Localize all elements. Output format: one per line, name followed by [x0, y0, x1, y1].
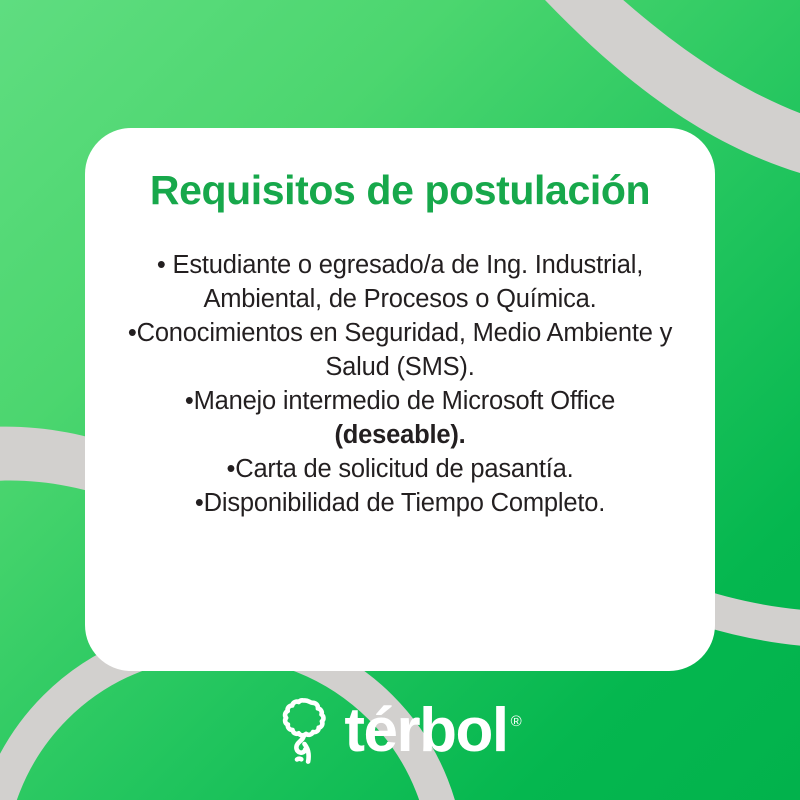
logo-wordmark: térbol ®: [344, 700, 521, 762]
list-item: •Manejo intermedio de Microsoft Office (…: [103, 384, 697, 452]
list-item: • Estudiante o egresado/a de Ing. Indust…: [103, 248, 697, 316]
list-item: •Carta de solicitud de pasantía.: [103, 452, 697, 486]
poster-canvas: Requisitos de postulación • Estudiante o…: [0, 0, 800, 800]
requirements-list: • Estudiante o egresado/a de Ing. Indust…: [103, 248, 697, 520]
registered-trademark-icon: ®: [511, 714, 522, 729]
list-item-line: Ambiental, de Procesos o Química.: [103, 282, 697, 316]
tree-icon: [278, 697, 330, 765]
logo-text: térbol: [344, 700, 507, 762]
page-title: Requisitos de postulación: [85, 168, 715, 213]
brand-logo: térbol ®: [0, 690, 800, 772]
list-item-line: •Conocimientos en Seguridad, Medio Ambie…: [103, 316, 697, 350]
list-item-line-emphasis: (deseable).: [103, 418, 697, 452]
list-item-line: •Manejo intermedio de Microsoft Office: [103, 384, 697, 418]
list-item-line: •Disponibilidad de Tiempo Completo.: [103, 486, 697, 520]
list-item: •Conocimientos en Seguridad, Medio Ambie…: [103, 316, 697, 384]
list-item: •Disponibilidad de Tiempo Completo.: [103, 486, 697, 520]
requirements-card: Requisitos de postulación • Estudiante o…: [85, 128, 715, 671]
list-item-line: Salud (SMS).: [103, 350, 697, 384]
list-item-line: •Carta de solicitud de pasantía.: [103, 452, 697, 486]
list-item-line: • Estudiante o egresado/a de Ing. Indust…: [103, 248, 697, 282]
